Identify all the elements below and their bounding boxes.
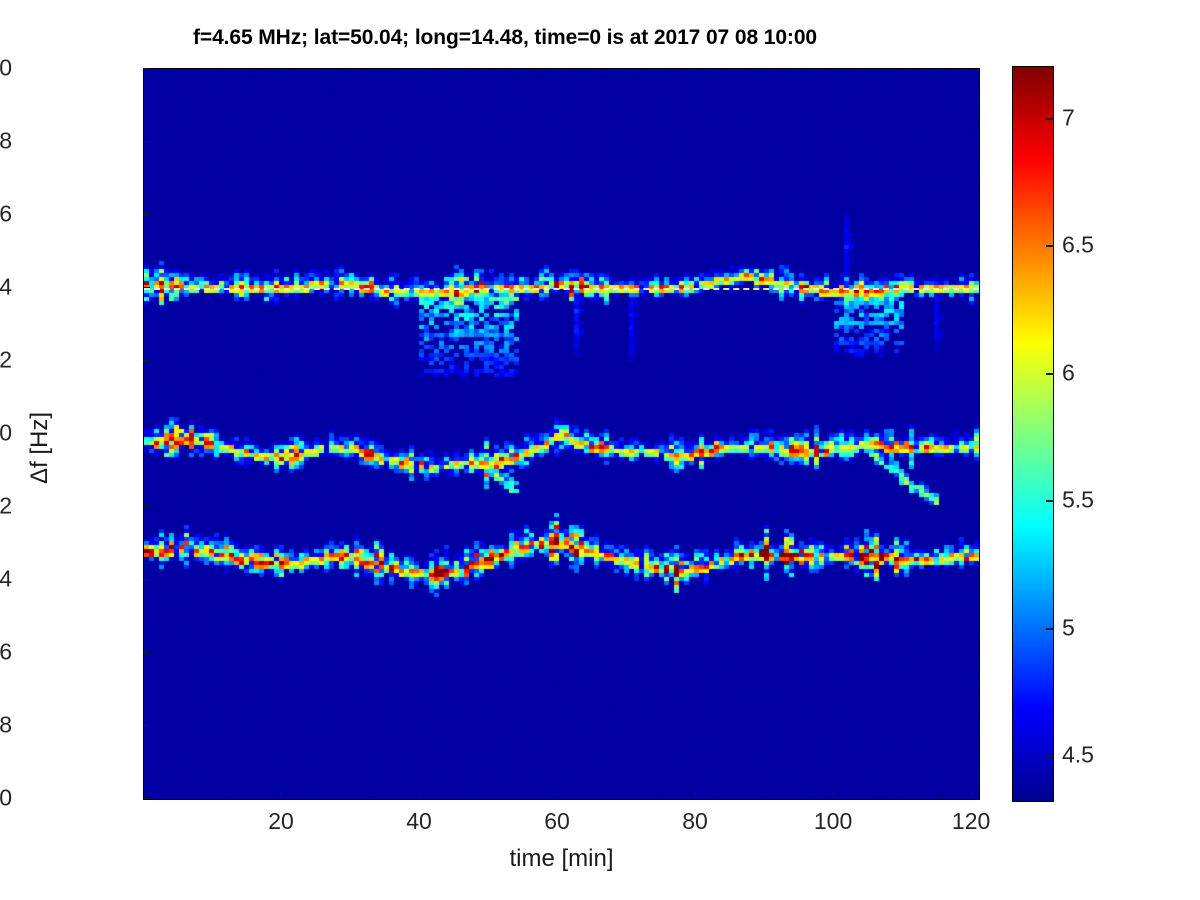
y-tick-mark	[143, 214, 150, 215]
y-tick-label: 2	[0, 347, 12, 374]
colorbar-tick-label: 5.5	[1062, 487, 1094, 514]
y-tick-label: 6	[0, 201, 12, 228]
y-tick-label: 0	[0, 420, 12, 447]
x-tick-label: 80	[682, 808, 708, 835]
y-tick-mark	[143, 652, 150, 653]
spectrogram-figure: f=4.65 MHz; lat=50.04; long=14.48, time=…	[0, 0, 1200, 900]
y-tick-label: -8	[0, 712, 12, 739]
colorbar-tick-label: 5	[1062, 614, 1075, 641]
x-tick-label: 120	[952, 808, 990, 835]
colorbar-tick-mark	[1046, 118, 1054, 120]
y-tick-mark	[143, 360, 150, 361]
y-tick-mark	[143, 579, 150, 580]
y-tick-mark	[143, 725, 150, 726]
colorbar-tick-mark	[1046, 755, 1054, 757]
x-tick-label: 40	[406, 808, 432, 835]
y-tick-label: -2	[0, 493, 12, 520]
x-tick-mark	[971, 791, 972, 798]
y-tick-label: -10	[0, 785, 12, 812]
colorbar-tick-label: 6.5	[1062, 232, 1094, 259]
colorbar-tick-mark	[1046, 245, 1054, 247]
y-axis-label: Δf [Hz]	[26, 348, 54, 548]
y-tick-label: 8	[0, 128, 12, 155]
x-axis-label: time [min]	[143, 845, 980, 873]
y-tick-label: -4	[0, 566, 12, 593]
x-tick-mark	[695, 791, 696, 798]
x-tick-mark	[833, 791, 834, 798]
reference-line-4hz	[144, 288, 979, 290]
colorbar	[1012, 66, 1054, 802]
y-tick-label: 10	[0, 55, 12, 82]
colorbar-tick-mark	[1046, 628, 1054, 630]
x-tick-mark	[419, 791, 420, 798]
x-tick-mark	[281, 791, 282, 798]
y-tick-mark	[143, 433, 150, 434]
y-tick-mark	[143, 798, 150, 799]
y-tick-mark	[143, 141, 150, 142]
y-tick-mark	[143, 506, 150, 507]
y-tick-mark	[143, 287, 150, 288]
colorbar-tick-label: 4.5	[1062, 742, 1094, 769]
x-tick-mark	[557, 791, 558, 798]
y-tick-mark	[143, 68, 150, 69]
colorbar-tick-mark	[1046, 373, 1054, 375]
x-tick-label: 100	[814, 808, 852, 835]
colorbar-gradient	[1013, 67, 1053, 801]
colorbar-tick-mark	[1046, 500, 1054, 502]
colorbar-tick-label: 6	[1062, 359, 1075, 386]
page-title: f=4.65 MHz; lat=50.04; long=14.48, time=…	[0, 26, 1010, 50]
y-tick-label: -6	[0, 639, 12, 666]
plot-area	[143, 68, 980, 800]
y-tick-label: 4	[0, 274, 12, 301]
x-tick-label: 20	[268, 808, 294, 835]
x-tick-label: 60	[544, 808, 570, 835]
colorbar-tick-label: 7	[1062, 104, 1075, 131]
spectrogram-canvas	[144, 69, 979, 799]
